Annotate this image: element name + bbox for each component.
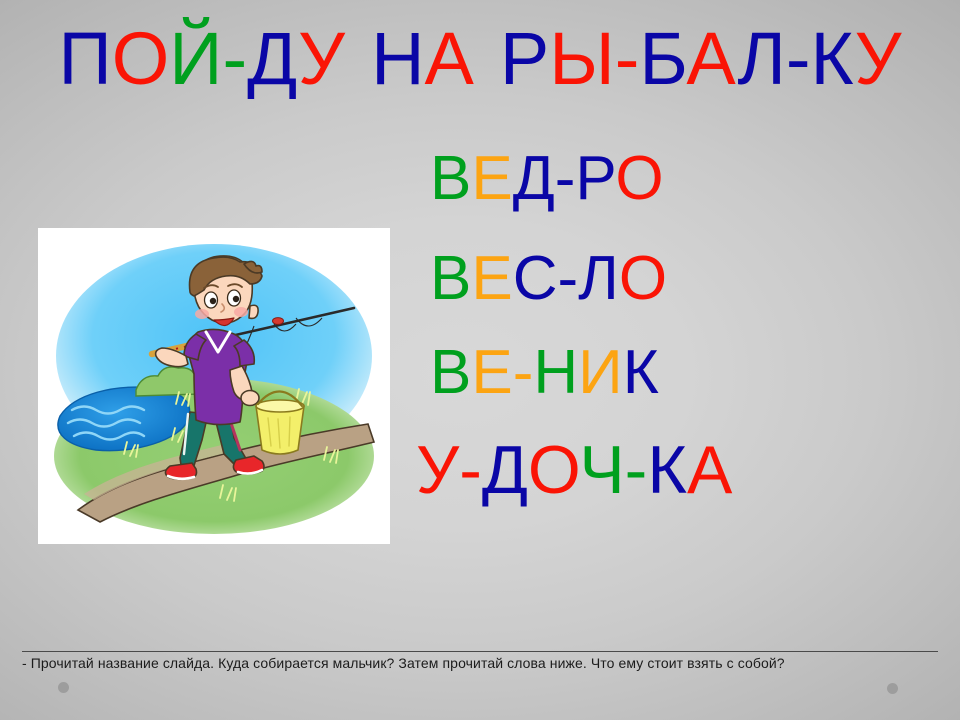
word-3-letter-4: Ч [579,432,624,508]
title-letter-4: Д [247,17,298,100]
title-letter-7: Н [371,17,424,100]
word-2-letter-5: К [623,338,659,407]
title-letter-10: Р [500,17,549,100]
word-2-letter-0: В [430,338,471,407]
word-3-letter-3: О [528,432,579,508]
title-space [345,22,371,96]
word-0-letter-3: - [555,144,576,213]
title-letter-11: Ы [549,17,615,100]
title-letter-2: Й [169,17,222,100]
word-item-3: У-ДОЧ-КА [416,436,950,504]
decorative-dot-left [58,682,69,693]
title-letter-5: У [298,17,345,100]
boy-going-fishing-illustration [38,228,390,544]
caption-text: - Прочитай название слайда. Куда собирае… [22,655,942,671]
word-0-letter-4: Р [575,144,615,213]
caption-divider [22,651,938,652]
word-3-letter-5: - [625,432,648,508]
word-1-letter-3: - [558,244,579,313]
slide-canvas: ПОЙ-ДУ НА РЫ-БАЛ-КУ ВЕД-РОВЕС-ЛОВЕ-НИКУ-… [0,0,960,720]
word-0-letter-1: Е [471,144,512,213]
word-0-letter-0: В [430,144,471,213]
title-letter-15: Л [737,17,786,100]
picture-frame[interactable] [38,228,390,544]
title-letter-0: П [59,17,112,100]
word-1-letter-4: Л [578,244,619,313]
word-list: ВЕД-РОВЕС-ЛОВЕ-НИКУ-ДОЧ-КА [430,148,950,504]
title-letter-3: - [222,17,247,100]
title-letter-17: К [811,17,855,100]
title-letter-16: - [786,17,811,100]
word-item-2: ВЕ-НИК [430,342,950,404]
word-1-letter-5: О [619,244,667,313]
word-2-letter-3: Н [533,338,578,407]
word-3-letter-7: А [687,432,732,508]
word-item-0: ВЕД-РО [430,148,950,210]
title-letter-8: А [425,17,474,100]
word-1-letter-0: В [430,244,471,313]
word-2-letter-4: И [578,338,623,407]
title-letter-1: О [112,17,170,100]
word-1-letter-2: С [513,244,558,313]
title-letter-13: Б [639,17,686,100]
word-2-letter-1: Е [471,338,512,407]
title-letter-18: У [854,17,901,100]
decorative-dot-right [887,683,898,694]
word-0-letter-5: О [615,144,663,213]
word-1-letter-1: Е [471,244,512,313]
word-item-1: ВЕС-ЛО [430,248,950,310]
word-3-letter-0: У [416,432,459,508]
word-3-letter-2: Д [482,432,528,508]
title-letter-14: А [686,17,737,100]
word-2-letter-2: - [513,338,534,407]
title-letter-12: - [615,17,640,100]
word-3-letter-1: - [459,432,482,508]
slide-title: ПОЙ-ДУ НА РЫ-БАЛ-КУ [0,22,960,96]
word-3-letter-6: К [647,432,687,508]
word-0-letter-2: Д [513,144,555,213]
title-space [474,22,500,96]
